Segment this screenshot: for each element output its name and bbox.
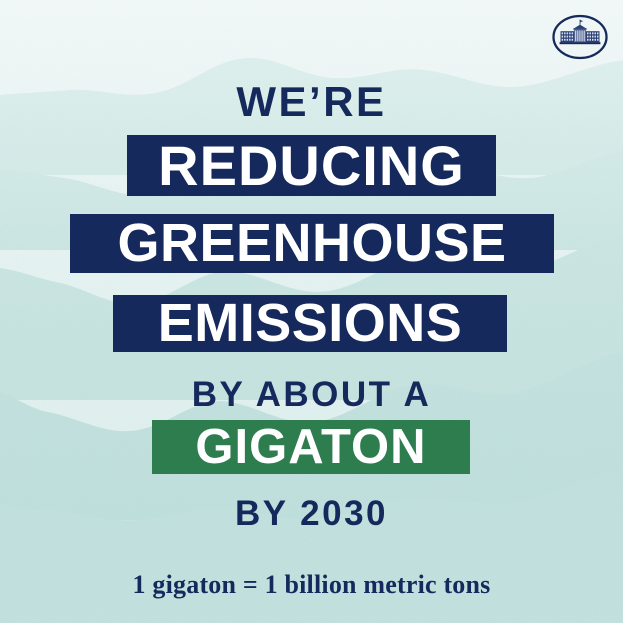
headline-stack: WE’RE REDUCING GREENHOUSE EMISSIONS BY A… <box>0 0 623 623</box>
headline-line-by-2030: BY 2030 <box>0 494 623 534</box>
headline-line-emissions: EMISSIONS <box>113 295 507 352</box>
headline-line-gigaton: GIGATON <box>152 420 470 474</box>
poster: WE’RE REDUCING GREENHOUSE EMISSIONS BY A… <box>0 0 623 623</box>
headline-line-were: WE’RE <box>0 78 623 126</box>
footnote-definition: 1 gigaton = 1 billion metric tons <box>0 570 623 600</box>
headline-line-reducing: REDUCING <box>127 135 496 196</box>
headline-line-greenhouse: GREENHOUSE <box>70 214 554 273</box>
headline-line-by-about-a: BY ABOUT A <box>0 375 623 415</box>
